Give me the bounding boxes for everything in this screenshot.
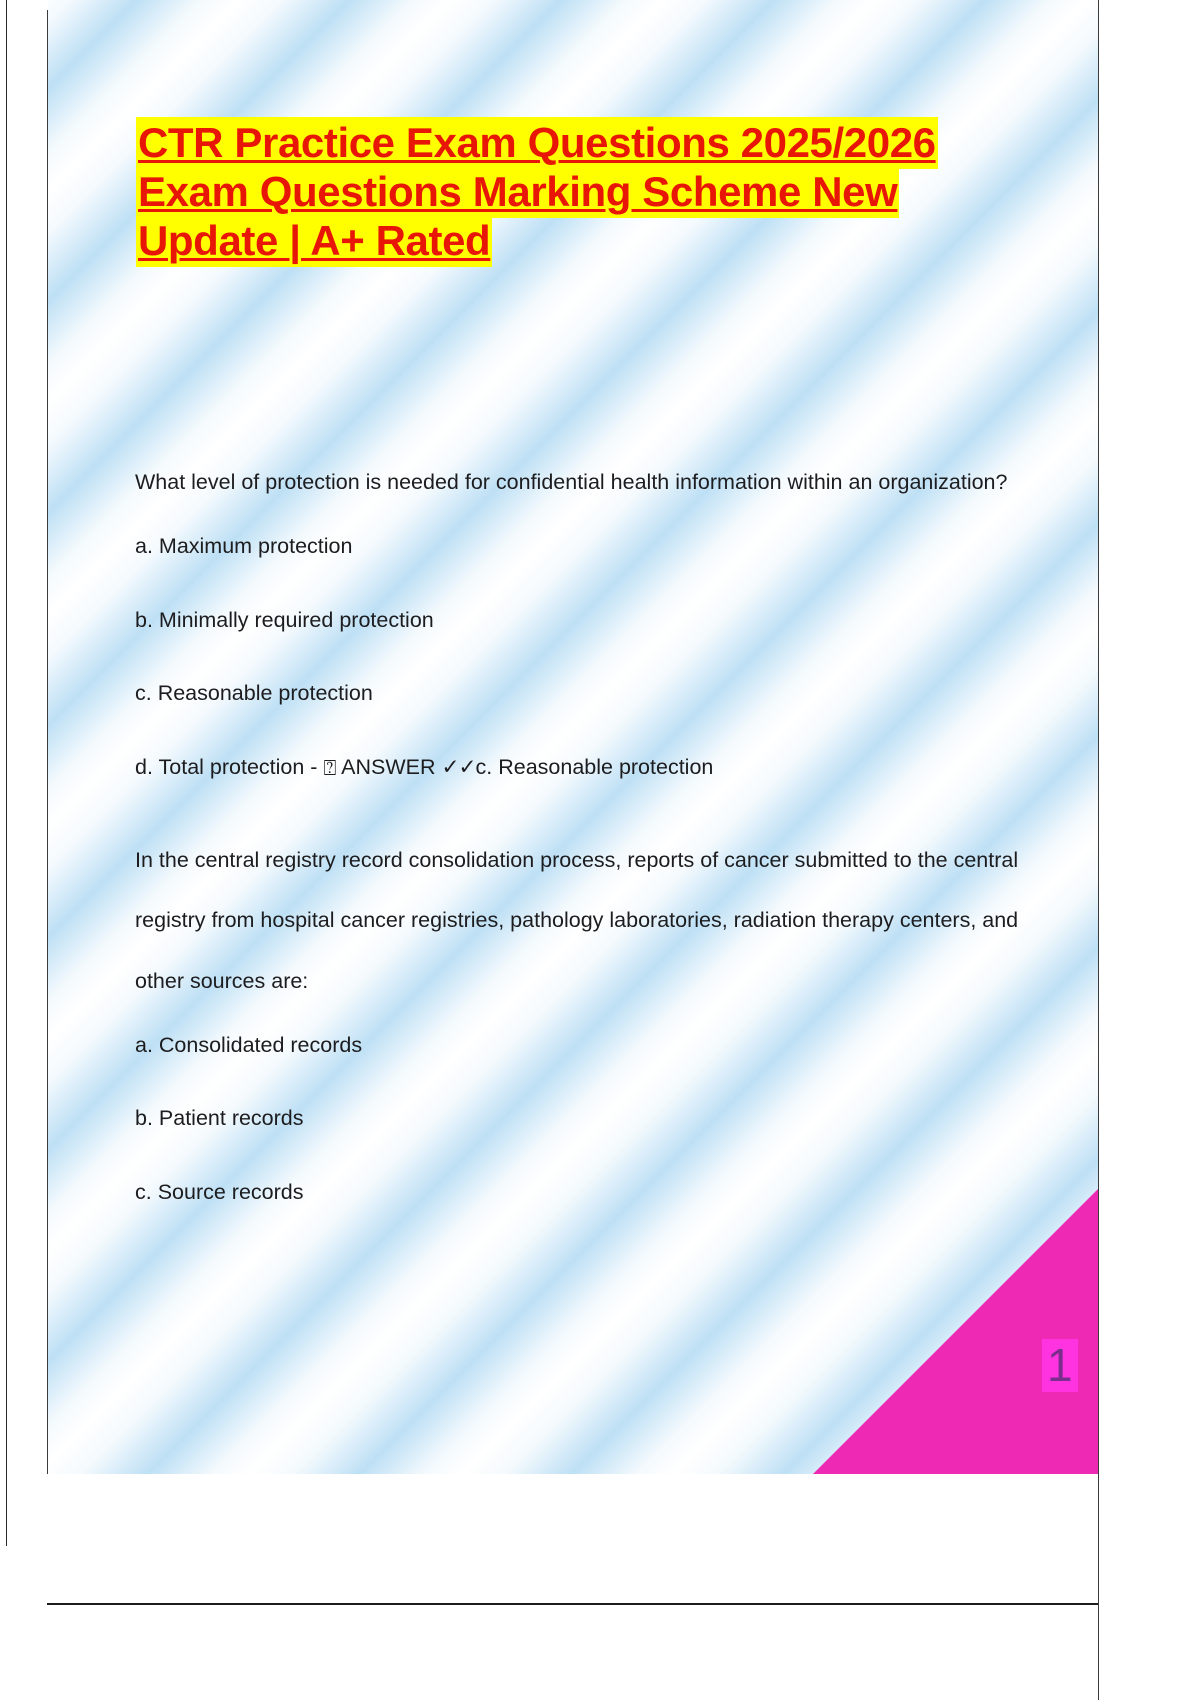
- title-line-1-text: CTR Practice Exam Questions 2025/2026: [136, 117, 938, 169]
- question-1-option-b: b. Minimally required protection: [135, 610, 1025, 632]
- question-1-option-c: c. Reasonable protection: [135, 683, 1025, 705]
- page-bottom-gap: [48, 1474, 1098, 1603]
- document-page: CTR Practice Exam Questions 2025/2026 Ex…: [48, 0, 1098, 1474]
- answer-label: ANSWER: [336, 755, 441, 779]
- title-line-3-text: Update | A+ Rated: [136, 215, 492, 267]
- question-1-stem: What level of protection is needed for c…: [135, 452, 1025, 512]
- page-title: CTR Practice Exam Questions 2025/2026 Ex…: [136, 122, 1016, 269]
- document-viewer: CTR Practice Exam Questions 2025/2026 Ex…: [0, 0, 1200, 1700]
- question-2-stem: In the central registry record consolida…: [135, 830, 1025, 1011]
- page-number-badge: 1: [1042, 1339, 1078, 1392]
- question-1-option-d-answer: d. Total protection - ⍰ ANSWER ✓✓c. Reas…: [135, 757, 1025, 779]
- answer-value: c. Reasonable protection: [476, 755, 714, 779]
- question-2-option-a: a. Consolidated records: [135, 1035, 1025, 1057]
- title-line-1: CTR Practice Exam Questions 2025/2026: [136, 122, 1016, 164]
- title-line-2-text: Exam Questions Marking Scheme New: [136, 166, 899, 218]
- document-body: What level of protection is needed for c…: [135, 452, 1025, 1255]
- viewer-left-rule: [6, 0, 7, 1546]
- title-line-2: Exam Questions Marking Scheme New: [136, 171, 1016, 213]
- checkmark-icon: ✓✓: [441, 755, 475, 780]
- viewer-bottom-edge: [47, 1603, 1098, 1605]
- page-right-border: [1098, 0, 1099, 1700]
- option-d-text: d. Total protection -: [135, 755, 323, 779]
- missing-glyph-icon: ⍰: [323, 758, 336, 780]
- corner-accent-triangle: [813, 1189, 1098, 1474]
- question-2-option-b: b. Patient records: [135, 1108, 1025, 1130]
- title-line-3: Update | A+ Rated: [136, 220, 1016, 262]
- question-1-option-a: a. Maximum protection: [135, 536, 1025, 558]
